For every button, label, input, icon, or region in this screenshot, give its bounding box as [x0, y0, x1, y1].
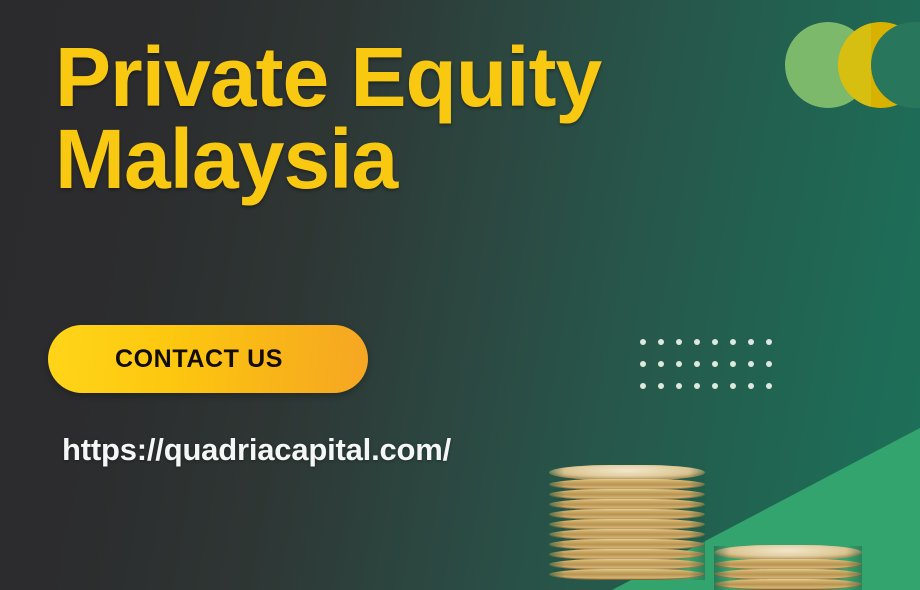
grid-dot [766, 361, 772, 367]
grid-dot [640, 339, 646, 345]
coin [549, 465, 705, 480]
grid-dot [676, 339, 682, 345]
grid-dot [748, 361, 754, 367]
coin [714, 545, 862, 560]
dot-grid-pattern [640, 339, 784, 405]
grid-dot [766, 383, 772, 389]
coin-stack-short [714, 546, 862, 590]
grid-dot [730, 339, 736, 345]
coin-stack-tall [549, 466, 705, 580]
grid-dot [730, 361, 736, 367]
grid-dot [748, 339, 754, 345]
grid-dot [694, 383, 700, 389]
grid-dot [658, 339, 664, 345]
grid-dot [712, 383, 718, 389]
grid-dot [766, 339, 772, 345]
headline-line-2: Malaysia [55, 118, 815, 200]
page-title: Private Equity Malaysia [55, 36, 815, 201]
grid-dot [676, 361, 682, 367]
grid-dot [694, 339, 700, 345]
grid-dot [640, 361, 646, 367]
grid-dot [748, 383, 754, 389]
grid-dot [712, 339, 718, 345]
coin [714, 579, 862, 590]
promo-banner: Private Equity Malaysia CONTACT US https… [0, 0, 920, 590]
coin [549, 569, 705, 580]
website-url-link[interactable]: https://quadriacapital.com/ [62, 432, 451, 468]
grid-dot [730, 383, 736, 389]
grid-dot [658, 383, 664, 389]
grid-dot [712, 361, 718, 367]
contact-us-button[interactable]: CONTACT US [48, 325, 368, 393]
grid-dot [640, 383, 646, 389]
grid-dot [676, 383, 682, 389]
grid-dot [658, 361, 664, 367]
headline-line-1: Private Equity [55, 36, 815, 118]
grid-dot [694, 361, 700, 367]
